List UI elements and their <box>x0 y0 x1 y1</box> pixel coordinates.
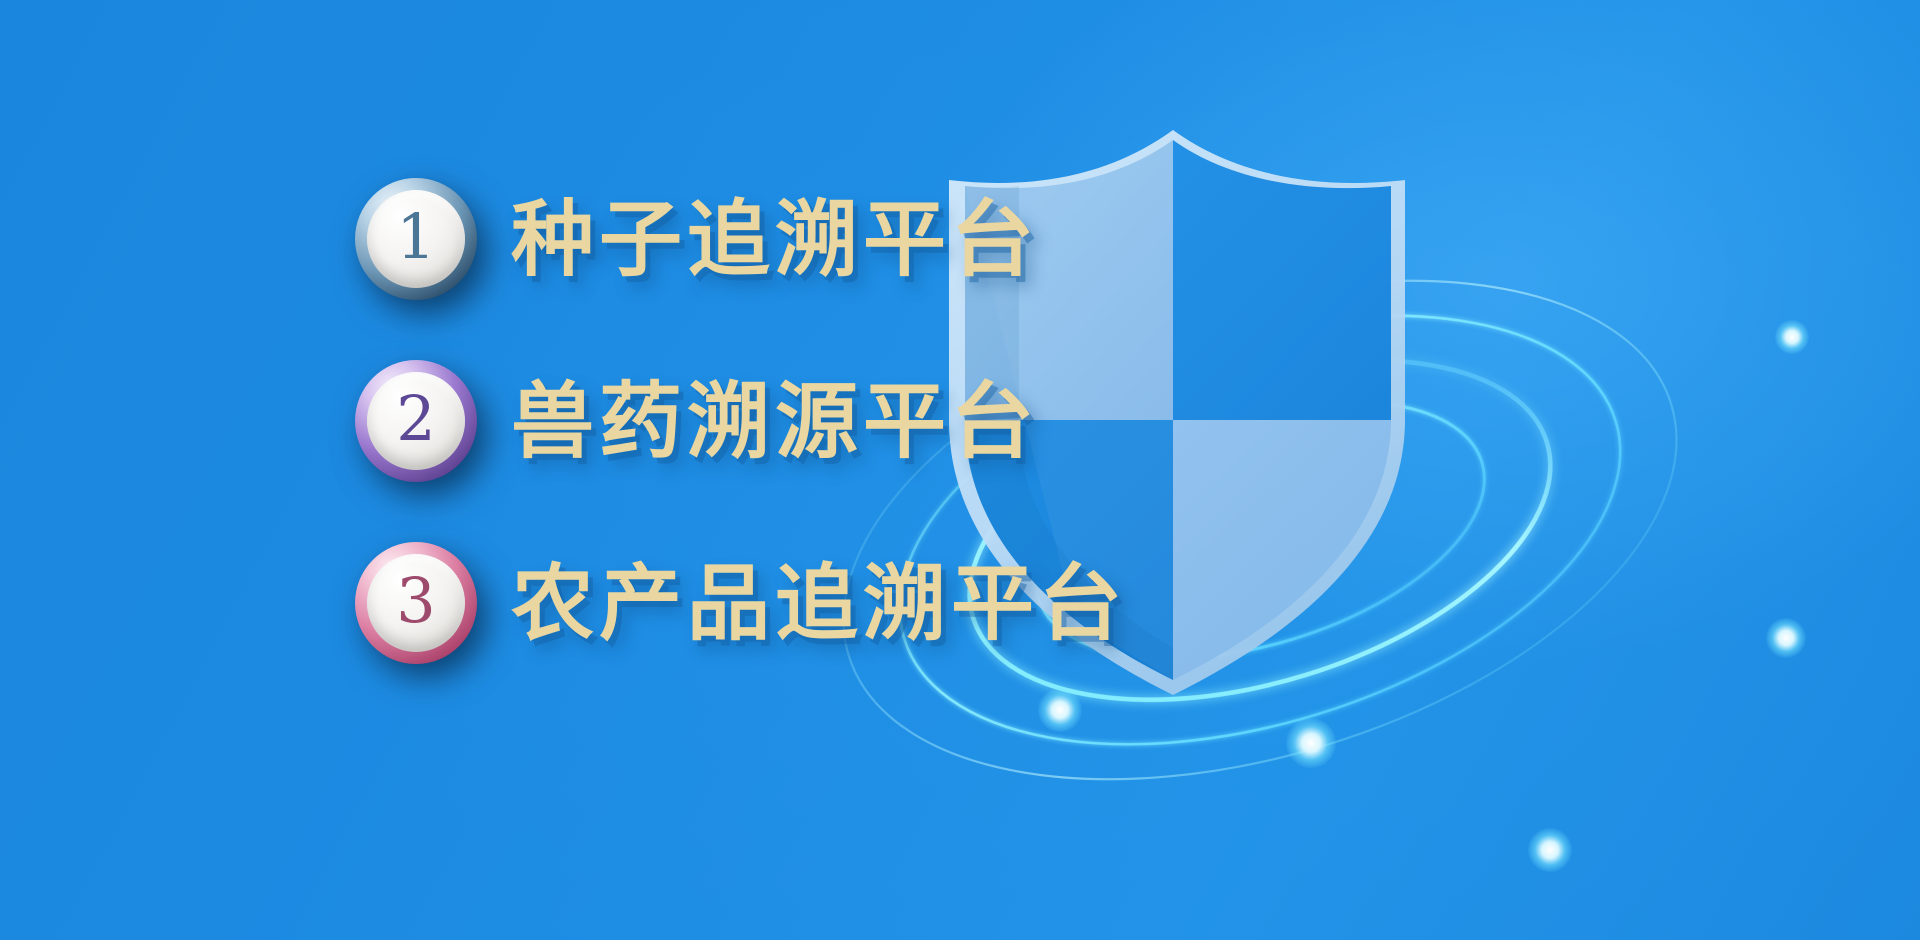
platform-label: 兽药溯源平台 <box>511 380 1039 463</box>
platform-label: 农产品追溯平台 <box>511 562 1127 645</box>
badge-two[interactable]: 2 <box>355 360 477 482</box>
list-item[interactable]: 1 种子追溯平台 <box>355 178 1127 300</box>
list-item[interactable]: 3 农产品追溯平台 <box>355 542 1127 664</box>
badge-one[interactable]: 1 <box>355 178 477 300</box>
list-item[interactable]: 2 兽药溯源平台 <box>355 360 1127 482</box>
sparkle-dots <box>1286 718 1336 768</box>
platform-list: 1 种子追溯平台 2 兽药溯源平台 3 农产品追溯平台 <box>355 178 1127 664</box>
banner-canvas: 1 种子追溯平台 2 兽药溯源平台 3 农产品追溯平台 <box>0 0 1920 940</box>
sparkle-dots <box>1766 618 1806 658</box>
sparkle-dots <box>1775 320 1809 354</box>
sparkle-dots <box>1528 828 1572 872</box>
badge-number: 3 <box>396 570 435 632</box>
badge-number: 2 <box>396 388 435 450</box>
badge-number: 1 <box>396 206 435 268</box>
badge-three[interactable]: 3 <box>355 542 477 664</box>
platform-label: 种子追溯平台 <box>511 198 1039 281</box>
